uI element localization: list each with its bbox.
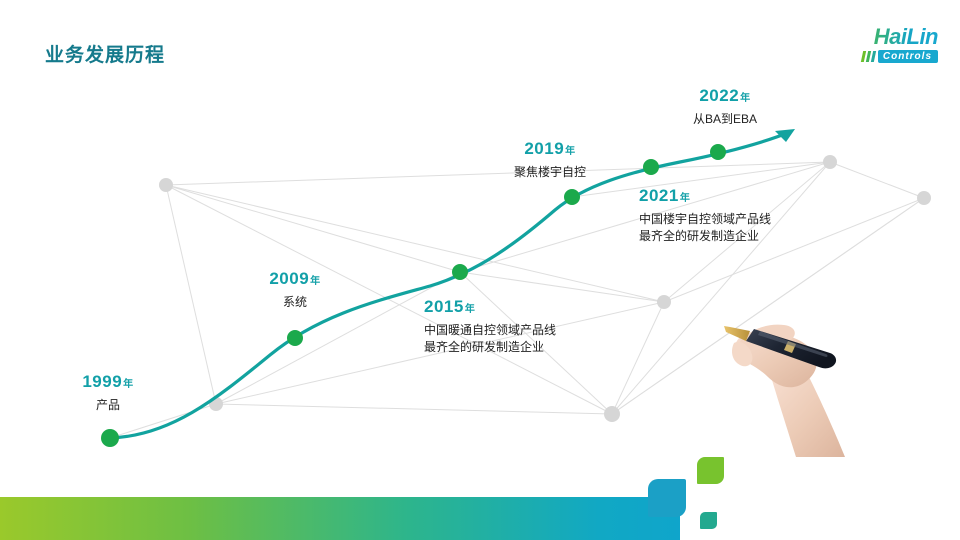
milestone-2022-desc: 从BA到EBA [645,111,805,128]
milestone-2022[interactable]: 2022年 从BA到EBA [645,86,805,128]
milestone-1999[interactable]: 1999年 产品 [48,372,168,414]
milestone-2021[interactable]: 2021年 中国楼宇自控领域产品线 最齐全的研发制造企业 [639,186,771,245]
milestone-2015-year: 2015年 [424,297,556,317]
growth-curve [110,132,790,438]
milestone-dot-1999[interactable] [101,429,119,447]
footer-square-green [697,457,724,484]
milestone-2019-year: 2019年 [464,139,636,159]
footer-gradient-bar [0,497,680,540]
milestone-1999-desc: 产品 [48,397,168,414]
milestone-2015-desc-line2: 最齐全的研发制造企业 [424,339,556,356]
milestone-2019-desc: 聚焦楼宇自控 [464,164,636,181]
milestone-2022-year: 2022年 [645,86,805,106]
milestone-2019[interactable]: 2019年 聚焦楼宇自控 [464,139,636,181]
milestone-dot-2015[interactable] [452,264,468,280]
milestone-2009[interactable]: 2009年 系统 [235,269,355,311]
footer-square-teal [700,512,717,529]
milestone-2021-desc: 中国楼宇自控领域产品线 最齐全的研发制造企业 [639,211,771,245]
pen-nib-icon [724,326,750,341]
milestone-dot-2019[interactable] [564,189,580,205]
footer-square-blue [648,479,686,517]
milestone-2021-year: 2021年 [639,186,771,206]
milestone-2015[interactable]: 2015年 中国暖通自控领域产品线 最齐全的研发制造企业 [424,297,556,356]
slide-root: 业务发展历程 HaiLin Controls [0,0,960,540]
milestone-dot-2021[interactable] [643,159,659,175]
milestone-dots [101,144,726,447]
milestone-2015-desc-line1: 中国暖通自控领域产品线 [424,322,556,339]
milestone-dot-2009[interactable] [287,330,303,346]
forearm-shape [772,375,845,457]
milestone-2009-desc: 系统 [235,294,355,311]
milestone-2021-desc-line1: 中国楼宇自控领域产品线 [639,211,771,228]
milestone-2021-desc-line2: 最齐全的研发制造企业 [639,228,771,245]
milestone-2009-year: 2009年 [235,269,355,289]
milestone-2015-desc: 中国暖通自控领域产品线 最齐全的研发制造企业 [424,322,556,356]
hand-with-pen-icon [700,285,880,460]
milestone-1999-year: 1999年 [48,372,168,392]
milestone-dot-2022[interactable] [710,144,726,160]
